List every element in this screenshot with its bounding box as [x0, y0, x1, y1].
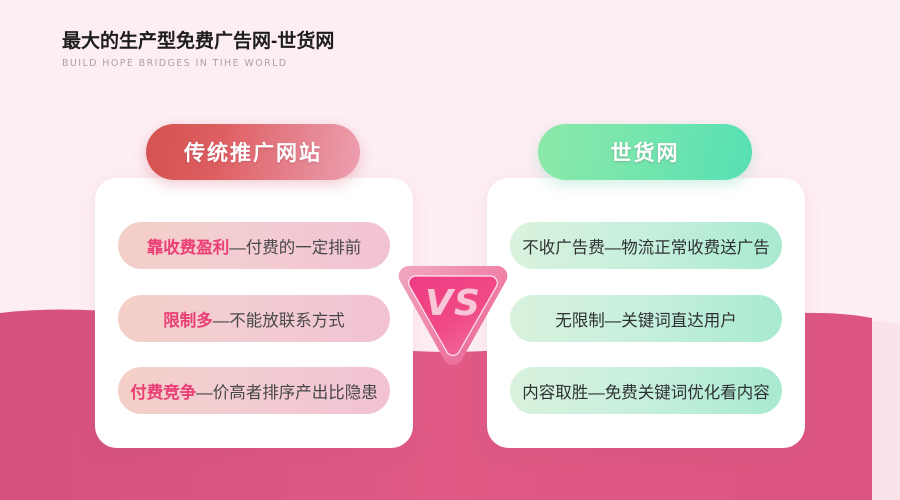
header-block: 最大的生产型免费广告网-世货网 BUILD HOPE BRIDGES IN TI… [62, 30, 334, 70]
right-column-heading-label: 世货网 [611, 137, 680, 167]
right-column: 不收广告费—物流正常收费送广告 无限制—关键词直达用户 内容取胜—免费关键词优化… [487, 178, 805, 448]
triangle-down-badge-icon [396, 262, 510, 370]
left-column-item-list: 靠收费盈利—付费的一定排前 限制多—不能放联系方式 付费竞争—价高者排序产出比隐… [95, 178, 413, 448]
right-column-item-list: 不收广告费—物流正常收费送广告 无限制—关键词直达用户 内容取胜—免费关键词优化… [487, 178, 805, 448]
list-item[interactable]: 无限制—关键词直达用户 [510, 295, 782, 342]
item-rest: —付费的一定排前 [229, 234, 361, 258]
list-item[interactable]: 限制多—不能放联系方式 [118, 295, 390, 342]
left-column: 靠收费盈利—付费的一定排前 限制多—不能放联系方式 付费竞争—价高者排序产出比隐… [95, 178, 413, 448]
list-item[interactable]: 不收广告费—物流正常收费送广告 [510, 222, 782, 269]
item-text: 无限制—关键词直达用户 [555, 307, 737, 331]
item-highlight: 付费竞争 [130, 379, 196, 403]
slide-canvas: 最大的生产型免费广告网-世货网 BUILD HOPE BRIDGES IN TI… [0, 0, 900, 500]
item-highlight: 靠收费盈利 [147, 234, 230, 258]
item-rest: —价高者排序产出比隐患 [196, 379, 378, 403]
left-column-heading-pill[interactable]: 传统推广网站 [146, 124, 360, 180]
list-item[interactable]: 付费竞争—价高者排序产出比隐患 [118, 367, 390, 414]
list-item[interactable]: 内容取胜—免费关键词优化看内容 [510, 367, 782, 414]
right-column-heading-pill[interactable]: 世货网 [538, 124, 752, 180]
item-text: 内容取胜—免费关键词优化看内容 [522, 379, 770, 403]
list-item[interactable]: 靠收费盈利—付费的一定排前 [118, 222, 390, 269]
left-column-heading-label: 传统推广网站 [184, 137, 322, 167]
page-subtitle: BUILD HOPE BRIDGES IN TIHE WORLD [62, 58, 334, 70]
item-rest: —不能放联系方式 [213, 307, 345, 331]
item-text: 不收广告费—物流正常收费送广告 [522, 234, 770, 258]
item-highlight: 限制多 [163, 307, 213, 331]
page-title: 最大的生产型免费广告网-世货网 [62, 30, 334, 54]
